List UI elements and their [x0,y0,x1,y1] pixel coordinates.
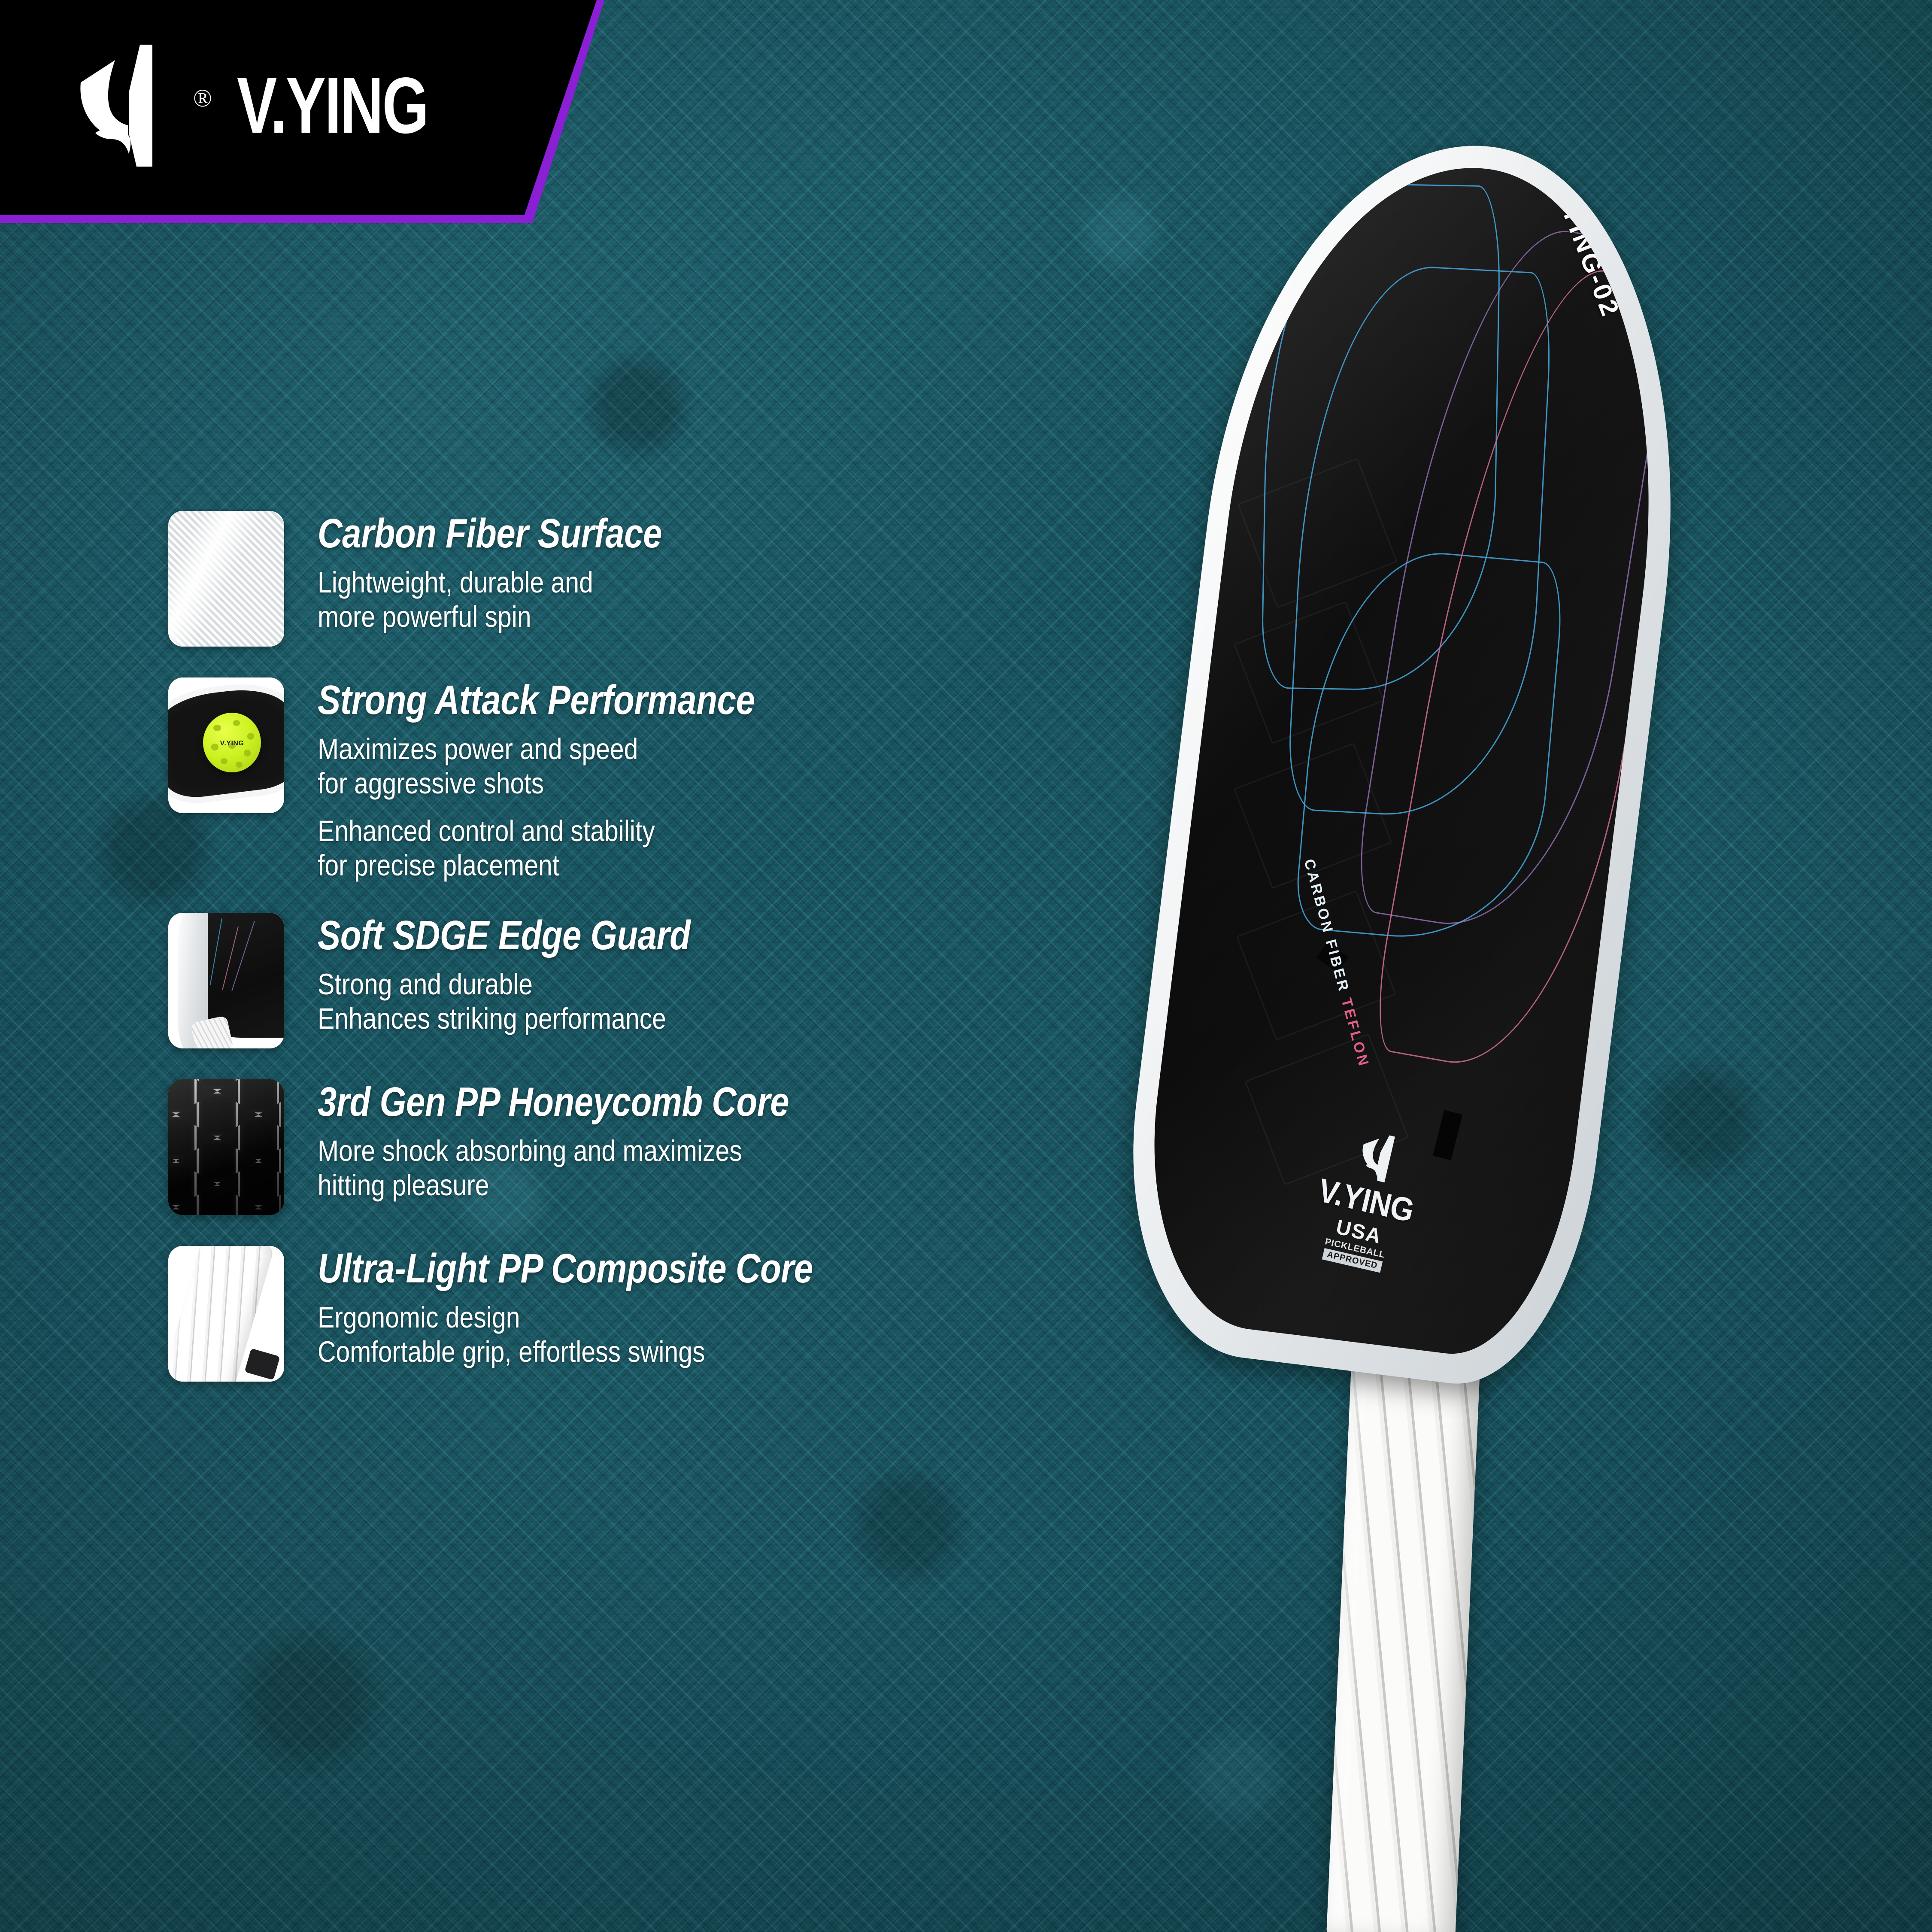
feature-desc-line: for aggressive shots [318,765,755,803]
honeycomb-core-thumbnail [168,1079,284,1215]
infographic-canvas: ® V.YING CARBON FIBER [0,0,1932,1932]
feature-desc-line: Ergonomic design [318,1299,813,1337]
feature-title: Soft SDGE Edge Guard [318,914,690,957]
edge-guard-closeup-thumbnail [168,913,284,1048]
feature-item-ultralight-composite-core: Ultra-Light PP Composite Core Ergonomic … [168,1246,1156,1382]
grip-wrap-thumbnail [168,1246,284,1382]
brand-wordmark: V.YING [237,66,428,145]
feature-desc-line: more powerful spin [318,598,662,637]
feature-desc-line: Lightweight, durable and [318,564,662,602]
feature-title: 3rd Gen PP Honeycomb Core [318,1081,789,1123]
carbon-fiber-weave-thumbnail [168,511,284,647]
feature-desc-line: for precise placement [318,847,755,885]
vying-bird-logo-icon: ® [64,41,172,170]
brand-lockup: ® V.YING [64,41,444,170]
feature-desc-line: Comfortable grip, effortless swings [318,1334,813,1372]
feature-title: Ultra-Light PP Composite Core [318,1248,813,1290]
feature-title: Strong Attack Performance [318,679,755,721]
feature-desc-line: Maximizes power and speed [318,731,755,769]
product-paddle-photo: CARBON FIBER TEFLON Y.YING-02 V.YING USA… [1146,142,1876,1932]
paddle-grip-handle [1326,1303,1483,1932]
paddle-face: CARBON FIBER TEFLON Y.YING-02 V.YING USA… [1131,143,1692,1366]
feature-list: Carbon Fiber Surface Lightweight, durabl… [168,511,1156,1413]
paddle-vying-logo-icon [1350,1127,1402,1186]
feature-item-honeycomb-core: 3rd Gen PP Honeycomb Core More shock abs… [168,1079,1156,1215]
registered-trademark-symbol: ® [193,86,212,111]
feature-desc-line: Strong and durable [318,966,690,1004]
feature-desc-line: Enhances striking performance [318,1000,690,1039]
feature-item-soft-sdge-edge-guard: Soft SDGE Edge Guard Strong and durable … [168,913,1156,1048]
feature-title: Carbon Fiber Surface [318,513,662,555]
feature-item-strong-attack-performance: V.YING Strong Attack Performance Maximiz… [168,677,1156,882]
ball-logo-text: V.YING [220,740,244,747]
feature-desc-line: Enhanced control and stability [318,813,755,851]
feature-desc-line: hitting pleasure [318,1167,789,1205]
feature-desc-line: More shock absorbing and maximizes [318,1133,789,1171]
feature-item-carbon-fiber-surface: Carbon Fiber Surface Lightweight, durabl… [168,511,1156,647]
paddle-with-pickleball-thumbnail: V.YING [168,677,284,813]
